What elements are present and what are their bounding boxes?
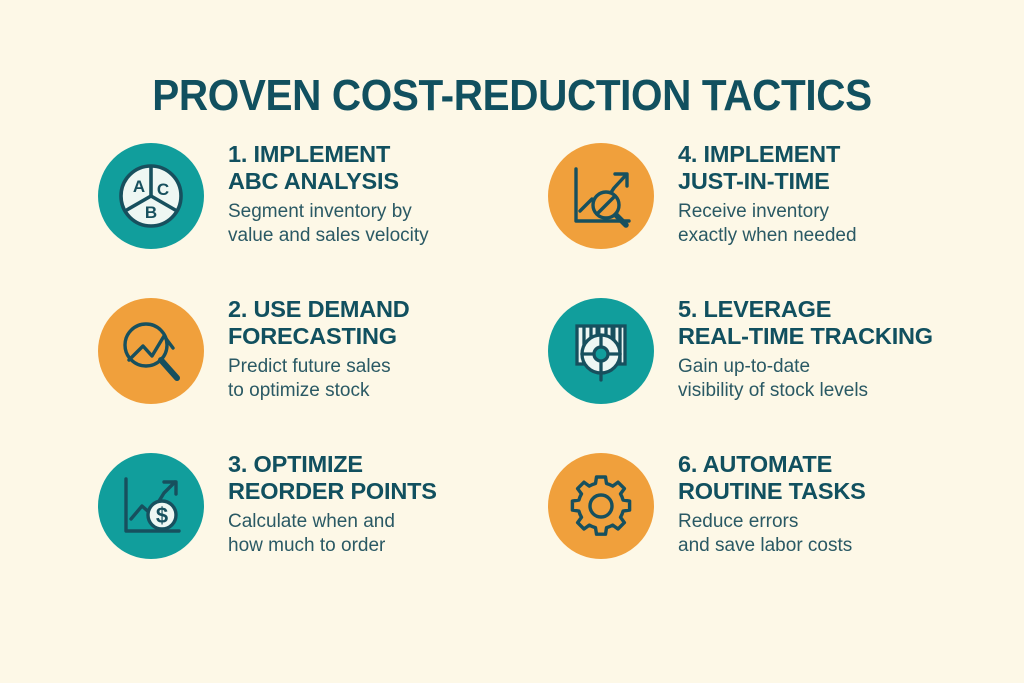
- gear-automation-icon: [548, 453, 654, 559]
- tactic-item-6: 6. AUTOMATE ROUTINE TASKS Reduce errors …: [548, 441, 998, 596]
- abc-pie-chart-icon: A C B: [98, 143, 204, 249]
- tactic-heading-4: 4. IMPLEMENT JUST-IN-TIME: [678, 141, 857, 194]
- infographic-poster: PROVEN COST-REDUCTION TACTICS A C B 1. I…: [0, 0, 1024, 683]
- tactic-heading-2: 2. USE DEMAND FORECASTING: [228, 296, 410, 349]
- tactic-text-2: 2. USE DEMAND FORECASTING Predict future…: [228, 286, 410, 403]
- tactic-description-6: Reduce errors and save labor costs: [678, 510, 866, 558]
- tactic-description-4: Receive inventory exactly when needed: [678, 200, 857, 248]
- tactic-description-1: Segment inventory by value and sales vel…: [228, 200, 429, 248]
- tactic-item-3: $ 3. OPTIMIZE REORDER POINTS Calculate w…: [98, 441, 548, 596]
- tactic-text-3: 3. OPTIMIZE REORDER POINTS Calculate whe…: [228, 441, 437, 558]
- svg-text:B: B: [145, 203, 157, 222]
- svg-text:$: $: [156, 503, 168, 528]
- tactic-text-6: 6. AUTOMATE ROUTINE TASKS Reduce errors …: [678, 441, 866, 558]
- tactic-description-3: Calculate when and how much to order: [228, 510, 437, 558]
- tactic-heading-3: 3. OPTIMIZE REORDER POINTS: [228, 451, 437, 504]
- svg-text:C: C: [157, 180, 169, 199]
- tactic-text-1: 1. IMPLEMENT ABC ANALYSIS Segment invent…: [228, 131, 429, 248]
- tactic-item-5: 5. LEVERAGE REAL-TIME TRACKING Gain up-t…: [548, 286, 998, 441]
- growth-chart-dollar-icon: $: [98, 453, 204, 559]
- tactic-heading-1: 1. IMPLEMENT ABC ANALYSIS: [228, 141, 429, 194]
- tactic-item-2: 2. USE DEMAND FORECASTING Predict future…: [98, 286, 548, 441]
- tactic-heading-5: 5. LEVERAGE REAL-TIME TRACKING: [678, 296, 933, 349]
- barcode-target-scan-icon: [548, 298, 654, 404]
- tactic-heading-6: 6. AUTOMATE ROUTINE TASKS: [678, 451, 866, 504]
- magnifier-trendline-icon: [98, 298, 204, 404]
- svg-text:A: A: [133, 177, 145, 196]
- tactic-item-4: 4. IMPLEMENT JUST-IN-TIME Receive invent…: [548, 131, 998, 286]
- chart-arrow-magnifier-icon: [548, 143, 654, 249]
- tactic-item-1: A C B 1. IMPLEMENT ABC ANALYSIS Segment …: [98, 131, 548, 286]
- tactics-grid: A C B 1. IMPLEMENT ABC ANALYSIS Segment …: [98, 131, 998, 596]
- tactic-text-5: 5. LEVERAGE REAL-TIME TRACKING Gain up-t…: [678, 286, 933, 403]
- tactic-text-4: 4. IMPLEMENT JUST-IN-TIME Receive invent…: [678, 131, 857, 248]
- tactic-description-2: Predict future sales to optimize stock: [228, 355, 410, 403]
- page-title: PROVEN COST-REDUCTION TACTICS: [41, 71, 983, 121]
- tactic-description-5: Gain up-to-date visibility of stock leve…: [678, 355, 933, 403]
